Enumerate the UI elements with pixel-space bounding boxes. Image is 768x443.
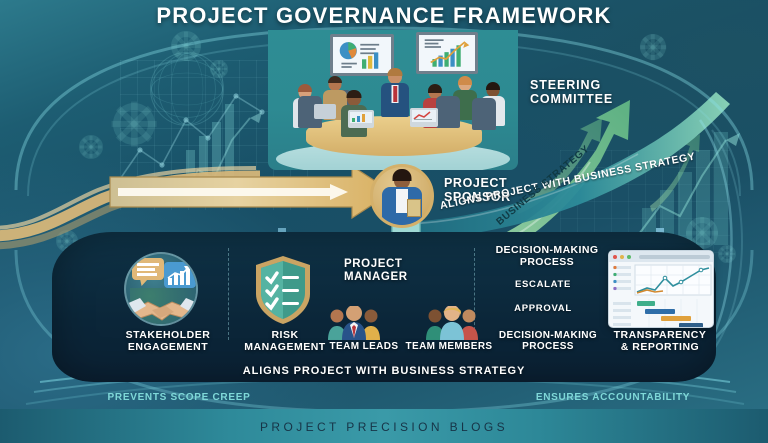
label-decision-making-top: DECISION-MAKING PROCESS [488,245,606,269]
stakeholder-engagement-icon [124,252,198,326]
brand-footer: PROJECT PRECISION BLOGS [0,420,768,434]
gear-icon [210,60,228,78]
gear-icon [113,103,155,145]
minimize-dot-icon [620,255,624,259]
team-members-icon [424,306,480,340]
stakeholder-line1: STAKEHOLDER [116,330,220,342]
titlebar-field [639,255,710,259]
label-risk-management: RISK MANAGEMENT [244,330,326,354]
transparency-line2: & REPORTING [608,342,712,354]
team-leads-icon [326,306,382,340]
risk-line1: RISK [244,330,326,342]
transparency-line1: TRANSPARENCY [608,330,712,342]
note-ensures-accountability: ENSURES ACCOUNTABILITY [498,392,728,403]
label-project-manager: PROJECT MANAGER [344,258,464,284]
decision-top-line2: PROCESS [488,257,606,269]
laptop-icon [410,108,438,127]
steering-line2: COMMITTEE [530,92,650,106]
risk-line2: MANAGEMENT [244,342,326,354]
chart-bubble-icon [164,262,196,288]
person-speaker [380,70,410,124]
escalate-arrow-label: ESCALATE [512,277,574,291]
presentation-screen-trend [416,32,478,74]
stakeholder-line2: ENGAGEMENT [116,342,220,354]
chat-bubble-icon [132,258,164,280]
risk-management-icon [252,254,314,326]
approval-arrow-label: APPROVAL [512,301,574,315]
gear-icon [79,135,103,159]
note-prevents-scope-creep: PREVENTS SCOPE CREEP [74,392,284,403]
page-title: PROJECT GOVERNANCE FRAMEWORK [0,3,768,29]
transparency-dashboard [608,250,714,328]
laptop-icon [314,104,336,119]
decision-bottom-line2: PROCESS [492,341,604,352]
infographic-canvas: PROJECT GOVERNANCE FRAMEWORK PROJECT PRE… [0,0,768,443]
maximize-dot-icon [627,255,631,259]
decision-top-line1: DECISION-MAKING [488,245,606,257]
gear-icon [718,245,736,263]
decision-bottom-line1: DECISION-MAKING [492,330,604,341]
steering-line1: STEERING [530,78,650,92]
close-dot-icon [613,255,617,259]
gear-icon [640,34,666,60]
chair [436,96,460,128]
label-steering-committee: STEERING COMMITTEE [530,78,650,106]
project-sponsor-avatar [370,164,434,228]
laptop-icon [348,110,374,128]
label-team-leads: TEAM LEADS [326,341,402,352]
window-titlebar [609,251,714,262]
label-decision-making-bottom: DECISION-MAKING PROCESS [492,330,604,352]
gear-icon [171,31,201,61]
bottom-strategy-label: ALIGNS PROJECT WITH BUSINESS STRATEGY [0,365,768,377]
section-divider [228,248,229,340]
chair [472,98,496,130]
label-stakeholder-engagement: STAKEHOLDER ENGAGEMENT [116,330,220,354]
label-team-members: TEAM MEMBERS [404,341,494,352]
label-transparency-reporting: TRANSPARENCY & REPORTING [608,330,712,354]
steering-committee-illustration [268,30,518,170]
handshake-icon [126,288,198,326]
